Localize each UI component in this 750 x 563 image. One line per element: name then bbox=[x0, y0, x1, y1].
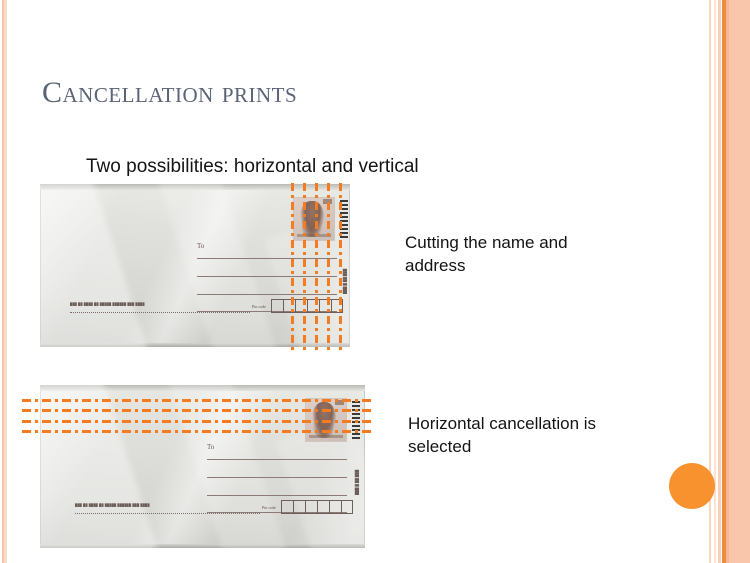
envelope-crease bbox=[40, 184, 148, 347]
cancellation-line-vertical bbox=[315, 183, 318, 353]
pincode-label: Pin code bbox=[262, 506, 276, 510]
cancellation-line-horizontal bbox=[22, 409, 372, 412]
envelope-fineprint: ███ ██ ████ ██ █████ ██████ ███ ████ bbox=[70, 302, 145, 307]
slide-canvas: Cancellation prints Two possibilities: h… bbox=[0, 0, 750, 563]
cancellation-line-horizontal bbox=[22, 430, 372, 433]
decorative-orange-circle bbox=[669, 463, 715, 509]
envelope-crease bbox=[154, 184, 285, 347]
cancellation-line-vertical bbox=[327, 183, 330, 353]
cancellation-line-horizontal bbox=[22, 399, 372, 402]
cancellation-line-horizontal bbox=[22, 420, 372, 423]
pincode-boxes bbox=[281, 500, 353, 514]
pincode-box bbox=[281, 500, 293, 514]
left-accent-bar-2 bbox=[4, 0, 7, 563]
envelope-fineprint: ███ ██ ████ ██ █████ ██████ ███ ████ bbox=[75, 503, 150, 508]
cancellation-line-vertical bbox=[303, 183, 306, 353]
envelope-side-text: ███ █ ██ ███ bbox=[343, 269, 347, 294]
to-label: To bbox=[197, 243, 204, 250]
cancellation-line-vertical bbox=[339, 183, 342, 353]
pincode-box bbox=[329, 500, 341, 514]
pincode-box bbox=[341, 500, 353, 514]
caption-cutting-name-address: Cutting the name and address bbox=[405, 232, 595, 277]
to-label: To bbox=[207, 444, 214, 451]
envelope-dotted-rule bbox=[75, 513, 260, 515]
envelope-dotted-rule bbox=[70, 312, 250, 314]
pincode-box bbox=[271, 299, 283, 313]
right-accent-bar-6 bbox=[729, 0, 750, 563]
pincode-box bbox=[317, 500, 329, 514]
pincode-boxes bbox=[271, 299, 343, 313]
address-line bbox=[207, 495, 347, 496]
lead-text: Two possibilities: horizontal and vertic… bbox=[86, 156, 419, 178]
address-line bbox=[207, 459, 347, 460]
cancellation-line-vertical bbox=[291, 183, 294, 353]
address-line bbox=[207, 477, 347, 478]
right-accent-bar-2 bbox=[714, 0, 716, 563]
caption-horizontal-cancellation: Horizontal cancellation is selected bbox=[408, 413, 598, 458]
stamp-caption-bar bbox=[309, 435, 343, 438]
pincode-box bbox=[305, 500, 317, 514]
right-accent-bar-3 bbox=[718, 0, 721, 563]
envelope-side-text: ███ █ ██ ███ bbox=[355, 470, 359, 495]
pincode-box bbox=[293, 500, 305, 514]
pincode-label: Pin code bbox=[252, 305, 266, 309]
slide-title: Cancellation prints bbox=[42, 76, 297, 110]
